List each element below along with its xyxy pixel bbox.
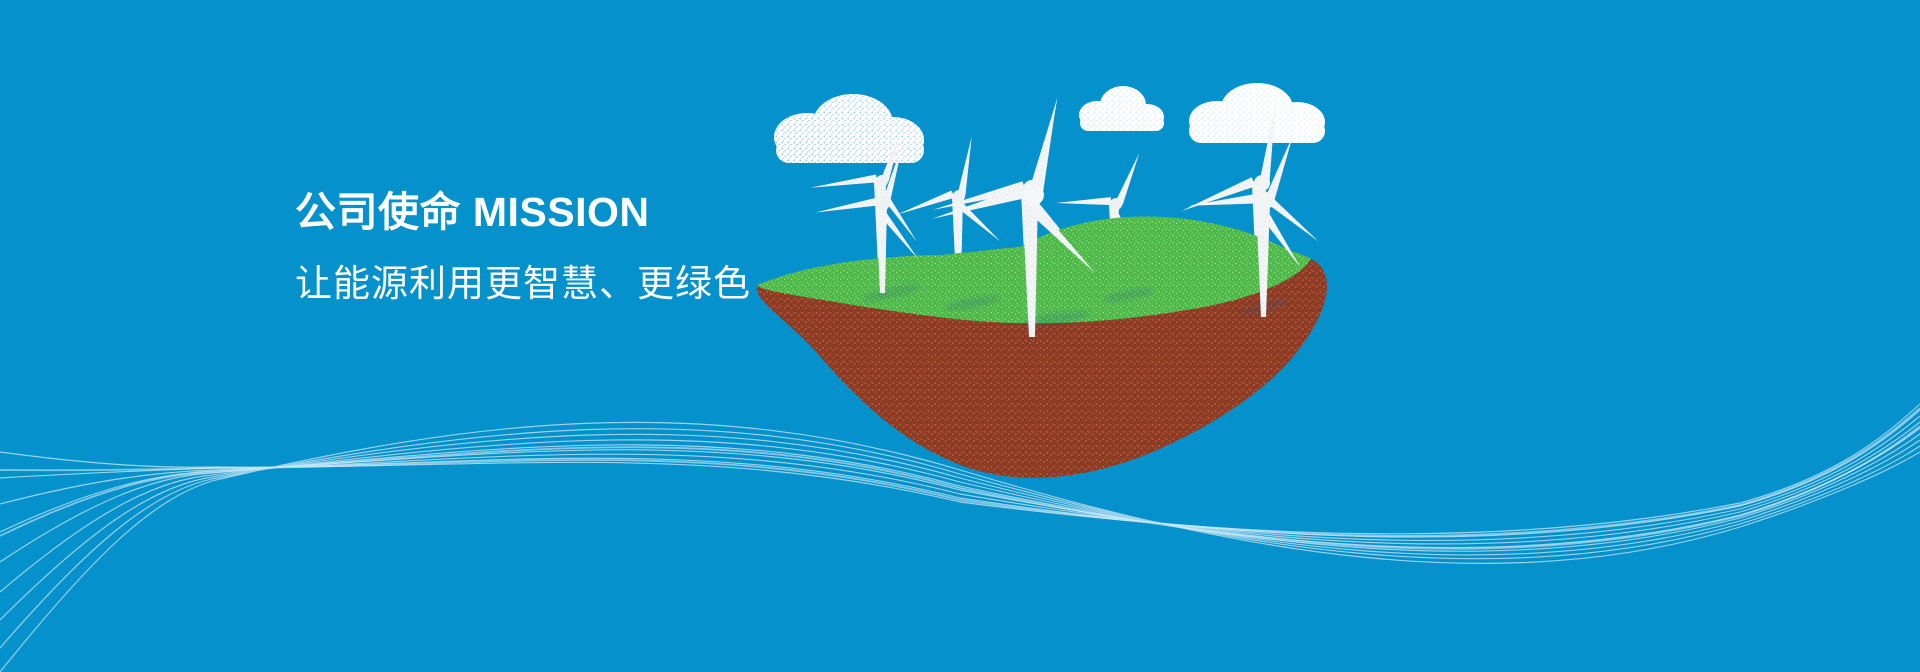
mission-subtitle: 让能源利用更智慧、更绿色 xyxy=(295,263,855,306)
cloud-middle xyxy=(1079,86,1164,131)
cloud-right xyxy=(1189,83,1325,143)
mission-banner: 公司使命 MISSION 让能源利用更智慧、更绿色 xyxy=(0,0,1920,672)
mission-text-block: 公司使命 MISSION 让能源利用更智慧、更绿色 xyxy=(295,190,855,306)
mission-title: 公司使命 MISSION xyxy=(295,190,855,235)
